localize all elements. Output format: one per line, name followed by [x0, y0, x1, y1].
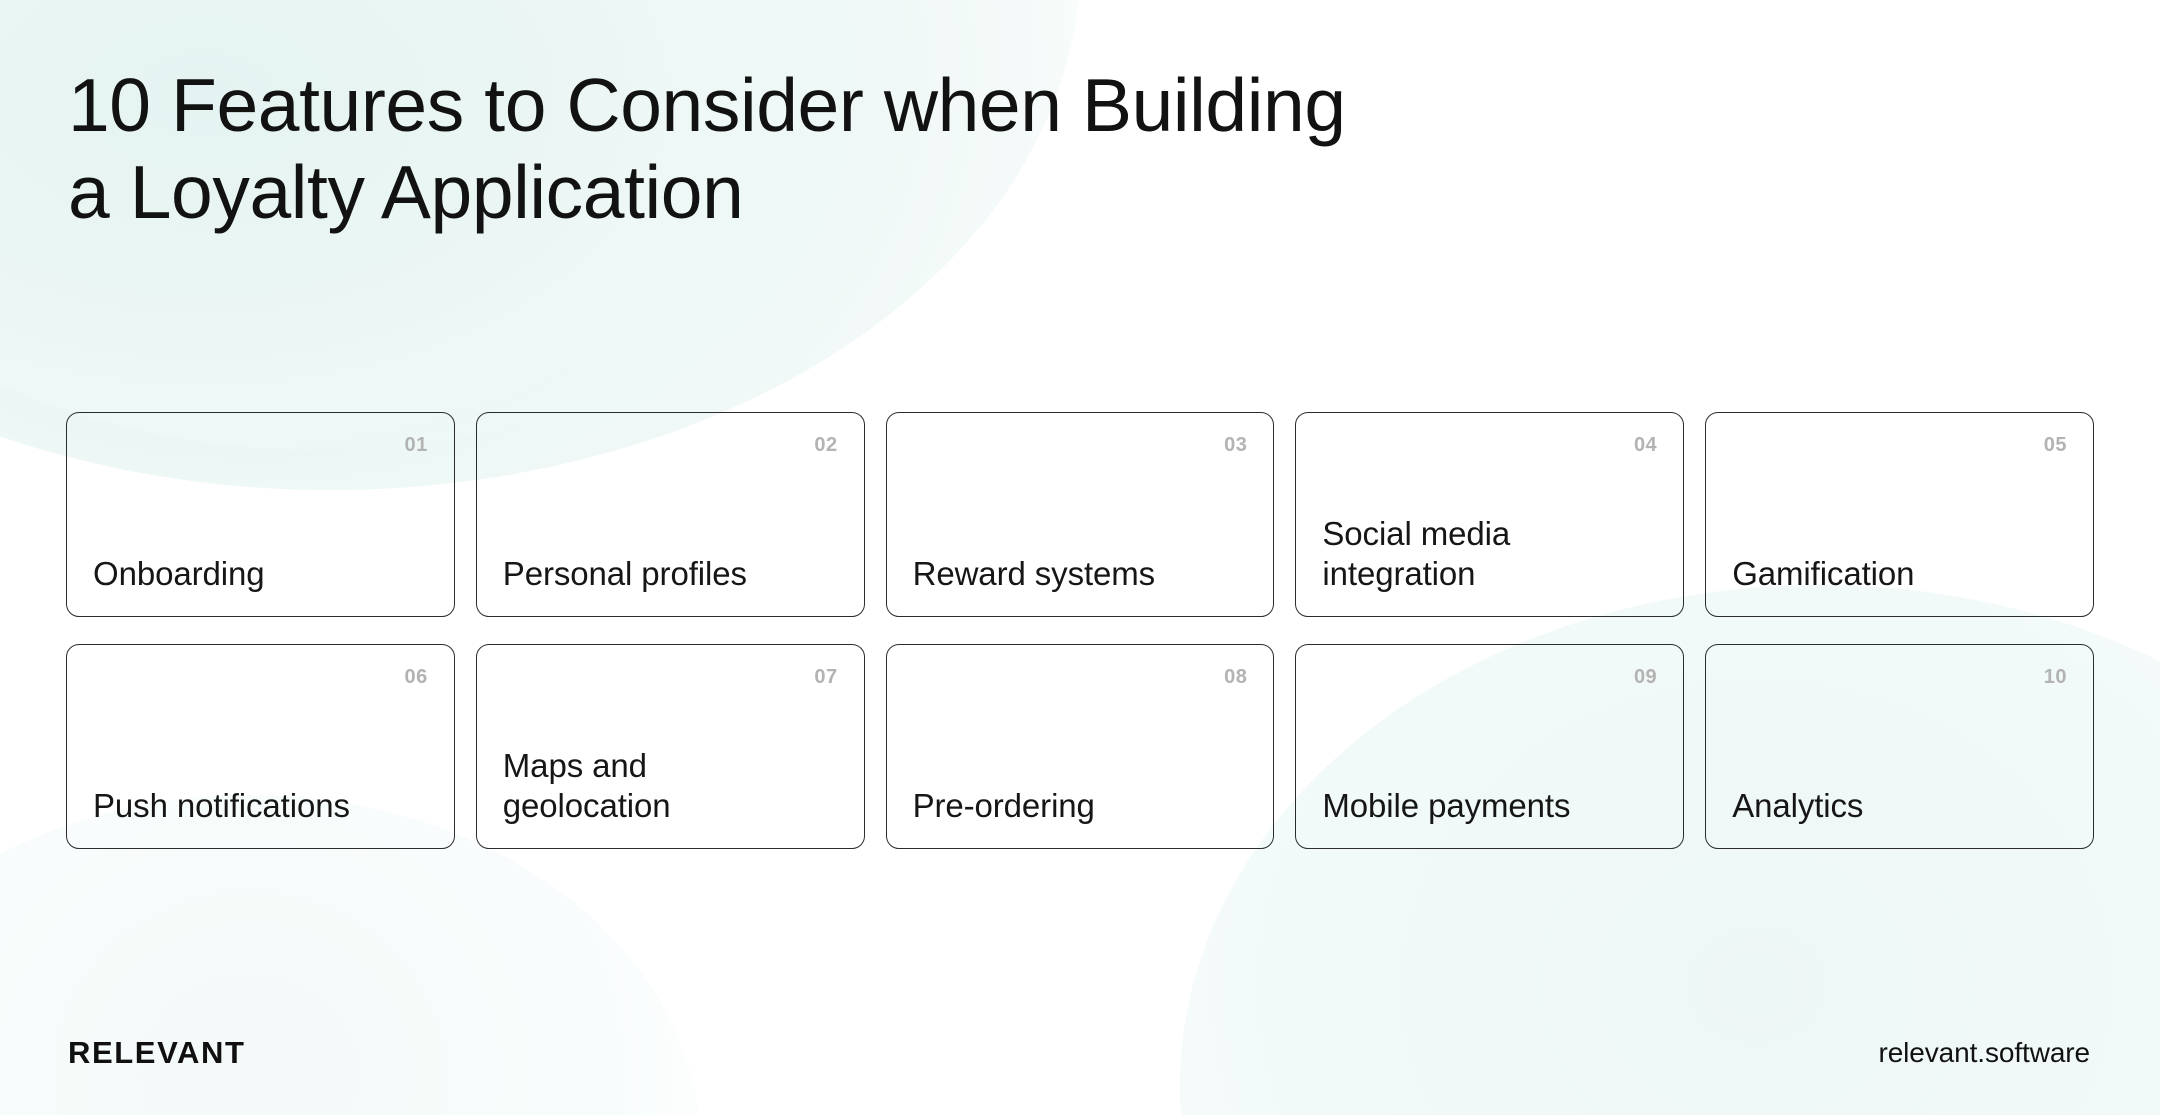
feature-label: Mobile payments — [1322, 786, 1657, 826]
brand-website-url: relevant.software — [1878, 1037, 2090, 1069]
features-grid: 01 Onboarding 02 Personal profiles 03 Re… — [66, 412, 2094, 849]
feature-card[interactable]: 09 Mobile payments — [1295, 644, 1684, 849]
feature-label: Pre-ordering — [913, 786, 1248, 826]
feature-number: 01 — [405, 435, 428, 455]
feature-label: Personal profiles — [503, 554, 838, 594]
feature-label: Maps and geolocation — [503, 746, 838, 827]
feature-card[interactable]: 06 Push notifications — [66, 644, 455, 849]
brand-logo: RELEVANT — [68, 1035, 246, 1071]
feature-number: 09 — [1634, 667, 1657, 687]
feature-label: Onboarding — [93, 554, 428, 594]
feature-card[interactable]: 02 Personal profiles — [476, 412, 865, 617]
feature-number: 04 — [1634, 435, 1657, 455]
feature-number: 03 — [1224, 435, 1247, 455]
feature-number: 07 — [814, 667, 837, 687]
feature-number: 02 — [814, 435, 837, 455]
feature-card[interactable]: 04 Social media integration — [1295, 412, 1684, 617]
feature-card[interactable]: 10 Analytics — [1705, 644, 2094, 849]
feature-label: Gamification — [1732, 554, 2067, 594]
slide: 10 Features to Consider when Building a … — [0, 0, 2160, 1115]
feature-card[interactable]: 08 Pre-ordering — [886, 644, 1275, 849]
feature-number: 10 — [2044, 667, 2067, 687]
features-row-1: 01 Onboarding 02 Personal profiles 03 Re… — [66, 412, 2094, 617]
feature-label: Reward systems — [913, 554, 1248, 594]
page-title: 10 Features to Consider when Building a … — [68, 62, 1868, 236]
feature-label: Social media integration — [1322, 514, 1657, 595]
feature-number: 06 — [405, 667, 428, 687]
feature-number: 05 — [2044, 435, 2067, 455]
feature-card[interactable]: 01 Onboarding — [66, 412, 455, 617]
feature-label: Push notifications — [93, 786, 428, 826]
feature-card[interactable]: 03 Reward systems — [886, 412, 1275, 617]
feature-card[interactable]: 07 Maps and geolocation — [476, 644, 865, 849]
feature-label: Analytics — [1732, 786, 2067, 826]
feature-card[interactable]: 05 Gamification — [1705, 412, 2094, 617]
features-row-2: 06 Push notifications 07 Maps and geoloc… — [66, 644, 2094, 849]
feature-number: 08 — [1224, 667, 1247, 687]
